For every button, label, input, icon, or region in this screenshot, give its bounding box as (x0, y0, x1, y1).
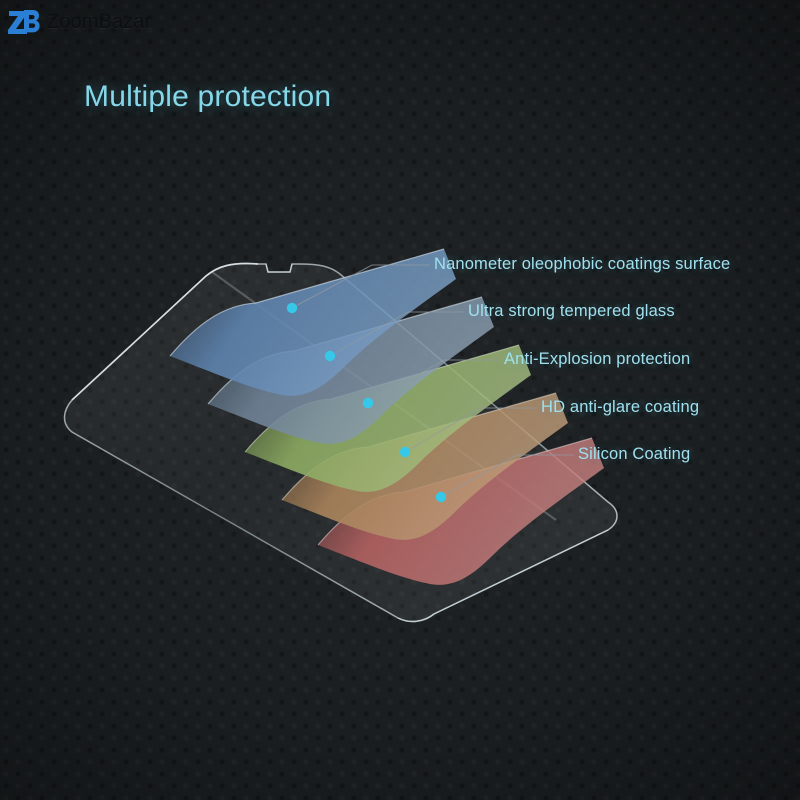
layer-marker-4 (400, 447, 410, 457)
layer-label-hd-anti-glare-coating: HD anti-glare coating (541, 398, 699, 417)
brand-name: ZoomBazar (47, 11, 151, 34)
layer-marker-3 (363, 398, 373, 408)
layer-label-nanometer-oleophobic-coatings-surface: Nanometer oleophobic coatings surface (434, 255, 730, 274)
product-feature-image: ZoomBazar Multiple protection Nanometer … (0, 0, 800, 800)
layer-label-silicon-coating: Silicon Coating (578, 445, 690, 464)
layer-marker-1 (287, 303, 297, 313)
brand-logo: ZoomBazar (6, 6, 151, 38)
layer-label-anti-explosion-protection: Anti-Explosion protection (504, 350, 690, 369)
layer-label-ultra-strong-tempered-glass: Ultra strong tempered glass (468, 302, 675, 321)
page-title: Multiple protection (84, 80, 331, 114)
zoombazar-zb-icon (6, 6, 40, 38)
layer-marker-2 (325, 351, 335, 361)
layer-marker-5 (436, 492, 446, 502)
